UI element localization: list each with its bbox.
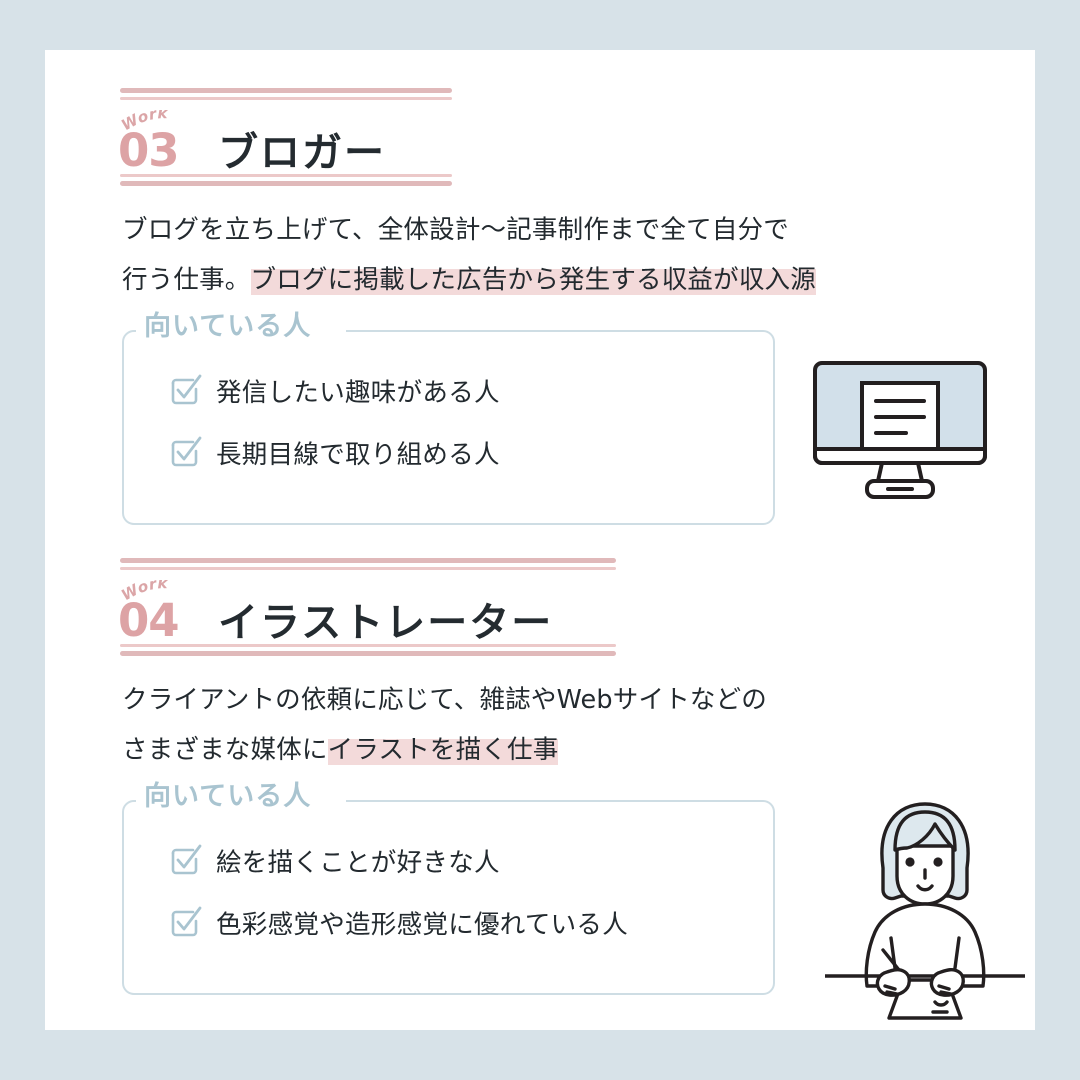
suited-for-label: 向いている人 [144, 782, 311, 812]
job-description-03: ブログを立ち上げて、全体設計〜記事制作まで全て自分で 行う仕事。ブログに掲載した… [122, 205, 816, 305]
description-span: クライアントの依頼に応じて、雑誌やWebサイトなどの [122, 685, 767, 715]
list-item: 発信したい趣味がある人 [170, 368, 500, 412]
suited-for-box-03: 向いている人 発信したい趣味がある人 [122, 312, 775, 525]
header-rule-top [120, 558, 616, 570]
work-number-badge-04: Work 04 [120, 582, 198, 648]
description-span: 行う仕事。 [122, 265, 251, 295]
list-item-label: 絵を描くことが好きな人 [216, 842, 500, 879]
header-content: Work 04 イラストレーター [120, 582, 553, 648]
header-rule-top [120, 88, 452, 100]
section-header-04: Work 04 イラストレーター [120, 558, 616, 658]
job-title-04: イラストレーター [218, 603, 553, 648]
description-span-highlighted: イラストを描く仕事 [328, 735, 559, 765]
checkbox-checked-icon [170, 437, 200, 467]
suited-for-list-03: 発信したい趣味がある人 長期目線で取り組める人 [170, 368, 500, 492]
description-span-highlighted: ブログに掲載した広告から発生する収益が収入源 [251, 265, 816, 295]
suited-for-list-04: 絵を描くことが好きな人 色彩感覚や造形感覚に優れている人 [170, 838, 628, 962]
list-item-label: 発信したい趣味がある人 [216, 372, 500, 409]
work-number-badge-03: Work 03 [120, 112, 198, 178]
content-card: Work 03 ブロガー ブログを立ち上げて、全体設計〜記事制作まで全て自分で … [45, 50, 1035, 1030]
work-number: 04 [118, 598, 179, 643]
header-rule-bottom [120, 174, 452, 186]
description-line: クライアントの依頼に応じて、雑誌やWebサイトなどの [122, 675, 767, 725]
description-span: ブログを立ち上げて、全体設計〜記事制作まで全て自分で [122, 215, 789, 245]
header-rule-bottom [120, 644, 616, 656]
list-item: 長期目線で取り組める人 [170, 430, 500, 474]
list-item-label: 長期目線で取り組める人 [216, 434, 500, 471]
section-header-03: Work 03 ブロガー [120, 88, 452, 188]
description-line: さまざまな媒体にイラストを描く仕事 [122, 725, 767, 775]
woman-drawing-tablet-icon [825, 790, 1025, 1025]
suited-for-box-04: 向いている人 絵を描くことが好きな人 [122, 782, 775, 995]
work-number: 03 [118, 128, 179, 173]
checkbox-checked-icon [170, 375, 200, 405]
list-item-label: 色彩感覚や造形感覚に優れている人 [216, 904, 628, 941]
checkbox-checked-icon [170, 907, 200, 937]
job-title-03: ブロガー [218, 133, 386, 178]
header-content: Work 03 ブロガー [120, 112, 386, 178]
desktop-monitor-icon [810, 355, 990, 505]
description-span: さまざまな媒体に [122, 735, 328, 765]
list-item: 色彩感覚や造形感覚に優れている人 [170, 900, 628, 944]
suited-for-label: 向いている人 [144, 312, 311, 342]
list-item: 絵を描くことが好きな人 [170, 838, 628, 882]
checkbox-checked-icon [170, 845, 200, 875]
description-line: 行う仕事。ブログに掲載した広告から発生する収益が収入源 [122, 255, 816, 305]
description-line: ブログを立ち上げて、全体設計〜記事制作まで全て自分で [122, 205, 816, 255]
job-description-04: クライアントの依頼に応じて、雑誌やWebサイトなどの さまざまな媒体にイラストを… [122, 675, 767, 775]
